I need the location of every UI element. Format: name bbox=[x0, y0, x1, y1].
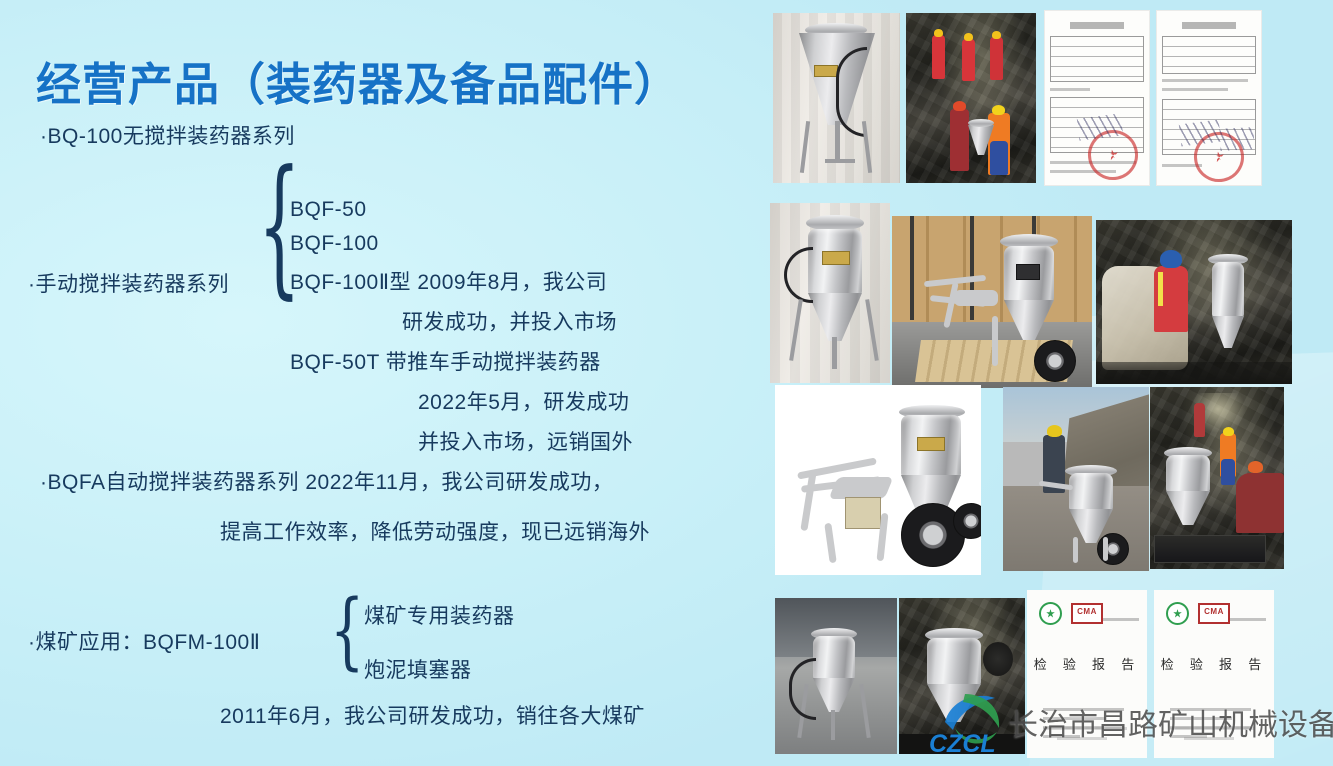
worker-underground-charging-photo[interactable] bbox=[1096, 220, 1292, 384]
label-coal-mine-application: ·煤矿应用：BQFM-100Ⅱ bbox=[28, 626, 261, 656]
list-item: 并投入市场，远销国外 bbox=[290, 426, 633, 456]
list-item: 研发成功，并投入市场 bbox=[290, 306, 633, 336]
text-column: 经营产品（装药器及备品配件） ·BQ-100无搅拌装药器系列 ·手动搅拌装药器系… bbox=[0, 0, 760, 766]
certificate-document-2[interactable] bbox=[1156, 10, 1262, 186]
list-item: 提高工作效率，降低劳动强度，现已远销海外 bbox=[40, 516, 650, 546]
bullet-bq100-series: ·BQ-100无搅拌装药器系列 bbox=[40, 120, 295, 150]
list-item: BQF-50T 带推车手动搅拌装药器 bbox=[290, 346, 633, 376]
coal-mine-footer: 2011年6月，我公司研发成功，销往各大煤矿 bbox=[220, 700, 645, 730]
report-title: 检 验 报 告 bbox=[1154, 654, 1274, 673]
brace-coal-mine: { bbox=[330, 589, 364, 673]
charging-device-studio-photo[interactable] bbox=[773, 13, 900, 183]
svg-text:CZCL: CZCL bbox=[929, 730, 996, 758]
cma-badge: CMA bbox=[1071, 603, 1103, 624]
trolley-device-white-background-photo[interactable] bbox=[775, 385, 981, 575]
cma-badge: CMA bbox=[1198, 603, 1230, 624]
label-manual-mixing-series: ·手动搅拌装药器系列 bbox=[28, 268, 229, 298]
watermark-company-name: 长治市昌路矿山机械设备制造有限公司 bbox=[1008, 700, 1333, 744]
underground-operation-photo[interactable] bbox=[1150, 387, 1284, 569]
list-item: 煤矿专用装药器 bbox=[364, 600, 515, 630]
bqfa-auto-series-block: ·BQFA自动搅拌装药器系列 2022年11月，我公司研发成功， 提高工作效率，… bbox=[40, 466, 650, 566]
list-item: 2022年5月，研发成功 bbox=[290, 386, 633, 416]
list-item: BQF-50 bbox=[290, 198, 633, 222]
list-item: 炮泥填塞器 bbox=[364, 654, 472, 684]
page-title: 经营产品（装药器及备品配件） bbox=[36, 48, 680, 113]
worker-outdoor-trolley-photo[interactable] bbox=[1003, 387, 1149, 571]
mine-workers-tunnel-photo[interactable] bbox=[906, 13, 1036, 183]
workshop-device-photo[interactable] bbox=[775, 598, 897, 754]
certificate-document-1[interactable] bbox=[1044, 10, 1150, 186]
manual-mixing-lines: BQF-50 BQF-100 BQF-100Ⅱ型 2009年8月，我公司 研发成… bbox=[290, 198, 633, 466]
charging-device-closeup-photo[interactable] bbox=[770, 203, 890, 383]
list-item: ·BQFA自动搅拌装药器系列 2022年11月，我公司研发成功， bbox=[40, 466, 650, 496]
list-item: BQF-100Ⅱ型 2009年8月，我公司 bbox=[290, 266, 633, 296]
slide-canvas: 经营产品（装药器及备品配件） ·BQ-100无搅拌装药器系列 ·手动搅拌装药器系… bbox=[0, 0, 1333, 766]
report-title: 检 验 报 告 bbox=[1027, 654, 1147, 673]
list-item: BQF-100 bbox=[290, 232, 633, 256]
trolley-charging-device-crate-photo[interactable] bbox=[892, 216, 1092, 388]
photo-grid: CMA 检 验 报 告 CMA 检 验 报 告 bbox=[760, 0, 1333, 766]
